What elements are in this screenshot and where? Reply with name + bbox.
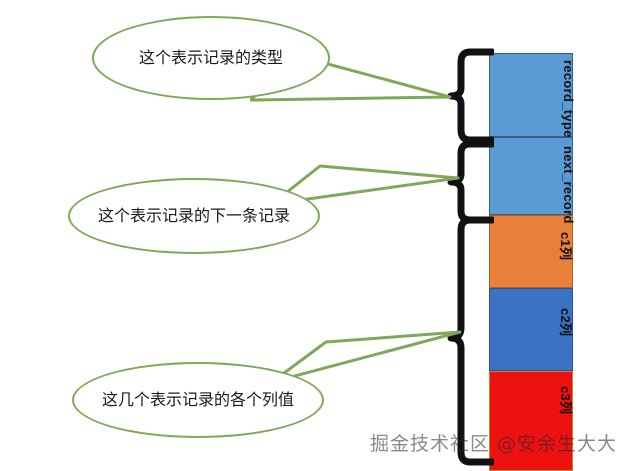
watermark: 掘金技术社区 @安余生大大	[370, 429, 617, 456]
bubble-next-record-text: 这个表示记录的下一条记录	[98, 206, 290, 225]
bubble-record-type: 这个表示记录的类型	[92, 16, 330, 100]
bubble-columns-text: 这几个表示记录的各个列值	[102, 390, 294, 409]
bubble-columns: 这几个表示记录的各个列值	[72, 362, 324, 438]
bubble-next-record: 这个表示记录的下一条记录	[68, 178, 320, 254]
diagram-canvas: record_type next_record c1列 c2列 c3列 这个表示…	[0, 0, 642, 471]
bubble-record-type-text: 这个表示记录的类型	[139, 48, 283, 67]
